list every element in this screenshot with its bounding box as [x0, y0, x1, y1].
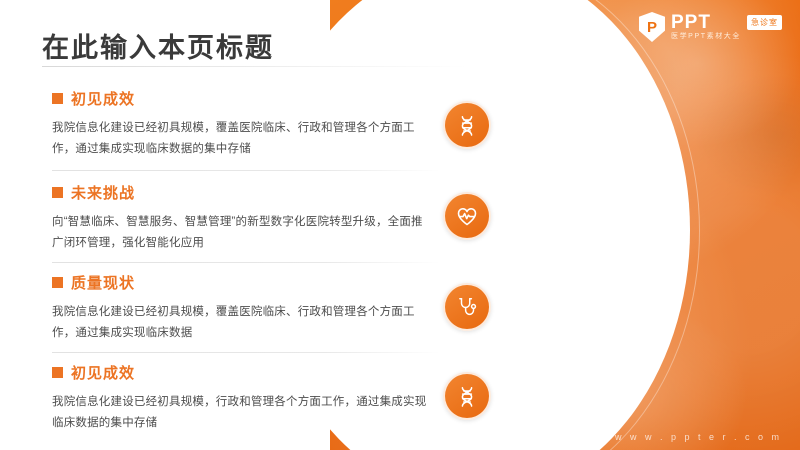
logo-tag: 急诊室: [747, 15, 782, 30]
shield-letter: P: [647, 20, 657, 35]
block-1-body: 我院信息化建设已经初具规模，覆盖医院临床、行政和管理各个方面工作，通过集成实现临…: [52, 118, 430, 161]
stethoscope-icon: [443, 283, 491, 331]
bullet-square-icon: [52, 93, 63, 104]
block-2-body: 向“智慧临床、智慧服务、智慧管理”的新型数字化医院转型升级，全面推广闭环管理，强…: [52, 212, 430, 255]
block-separator-2: [52, 262, 440, 263]
logo-name: PPT: [671, 13, 741, 33]
bullet-square-icon: [52, 187, 63, 198]
content-block-3: 质量现状 我院信息化建设已经初具规模，覆盖医院临床、行政和管理各个方面工作，通过…: [52, 272, 452, 345]
logo-text: PPT 医学PPT素材大全: [671, 13, 741, 40]
block-3-heading-row: 质量现状: [52, 272, 452, 293]
block-4-body: 我院信息化建设已经初具规模，行政和管理各个方面工作，通过集成实现临床数据的集中存…: [52, 392, 430, 435]
block-separator-3: [52, 352, 440, 353]
block-1-heading-row: 初见成效: [52, 88, 452, 109]
dna-icon: [443, 101, 491, 149]
logo-subtitle: 医学PPT素材大全: [671, 33, 741, 40]
watermark: w w w . p p t e r . c o m: [615, 432, 782, 442]
bullet-square-icon: [52, 277, 63, 288]
block-4-heading-row: 初见成效: [52, 362, 452, 383]
page-title: 在此输入本页标题: [42, 26, 274, 65]
content-block-2: 未来挑战 向“智慧临床、智慧服务、智慧管理”的新型数字化医院转型升级，全面推广闭…: [52, 182, 452, 255]
block-1-heading: 初见成效: [71, 88, 135, 109]
heartbeat-icon: [443, 192, 491, 240]
shield-icon: P: [639, 12, 665, 42]
block-3-body: 我院信息化建设已经初具规模，覆盖医院临床、行政和管理各个方面工作，通过集成实现临…: [52, 302, 430, 345]
bullet-square-icon: [52, 367, 63, 378]
block-separator-1: [52, 170, 440, 171]
slide: P PPT 医学PPT素材大全 急诊室 在此输入本页标题 初见成效 我院信息化建…: [0, 0, 800, 450]
block-2-heading: 未来挑战: [71, 182, 135, 203]
brand-logo: P PPT 医学PPT素材大全 急诊室: [639, 12, 782, 42]
block-3-heading: 质量现状: [71, 272, 135, 293]
block-4-heading: 初见成效: [71, 362, 135, 383]
content-block-1: 初见成效 我院信息化建设已经初具规模，覆盖医院临床、行政和管理各个方面工作，通过…: [52, 88, 452, 161]
title-divider: [42, 66, 467, 67]
dna-icon: [443, 372, 491, 420]
content-block-4: 初见成效 我院信息化建设已经初具规模，行政和管理各个方面工作，通过集成实现临床数…: [52, 362, 452, 435]
block-2-heading-row: 未来挑战: [52, 182, 452, 203]
